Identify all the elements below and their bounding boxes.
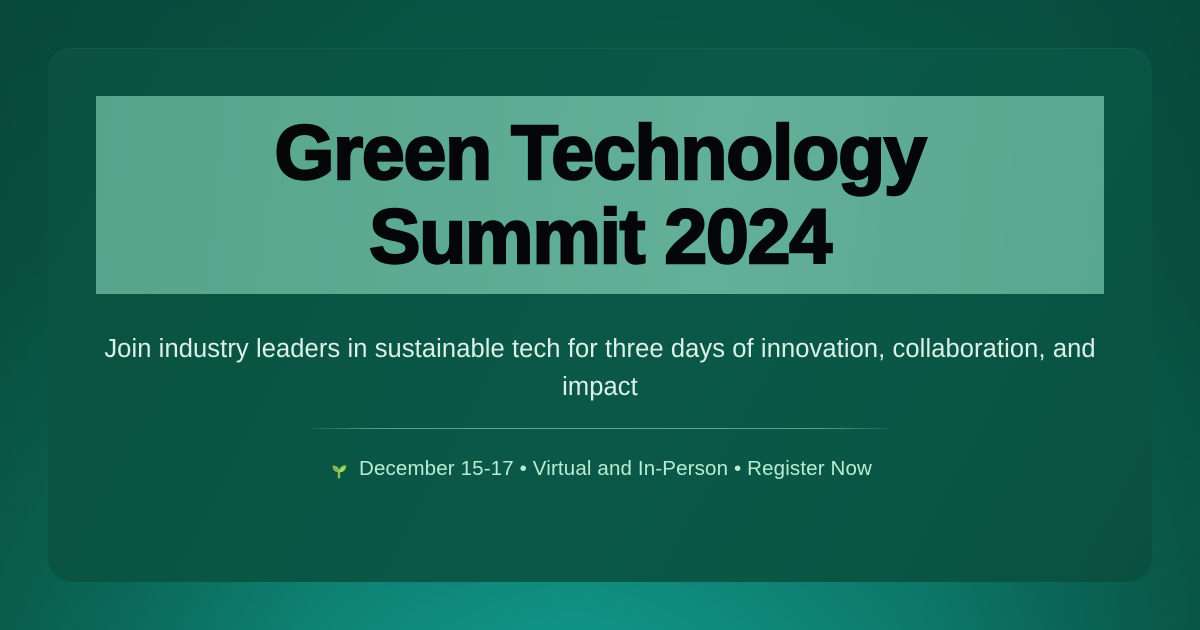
poster-subtitle: Join industry leaders in sustainable tec… xyxy=(95,330,1105,406)
title-banner: Green Technology Summit 2024 xyxy=(96,96,1104,294)
event-poster: Green Technology Summit 2024 Join indust… xyxy=(0,0,1200,630)
page-title-line-2: Summit 2024 xyxy=(369,195,831,279)
sprout-icon xyxy=(328,459,349,480)
poster-body: Join industry leaders in sustainable tec… xyxy=(48,294,1152,481)
page-title-line-1: Green Technology xyxy=(274,111,925,195)
divider xyxy=(313,428,887,429)
event-details-text: December 15-17 • Virtual and In-Person •… xyxy=(359,457,872,481)
poster-card: Green Technology Summit 2024 Join indust… xyxy=(48,48,1152,582)
event-details: December 15-17 • Virtual and In-Person •… xyxy=(328,457,872,481)
